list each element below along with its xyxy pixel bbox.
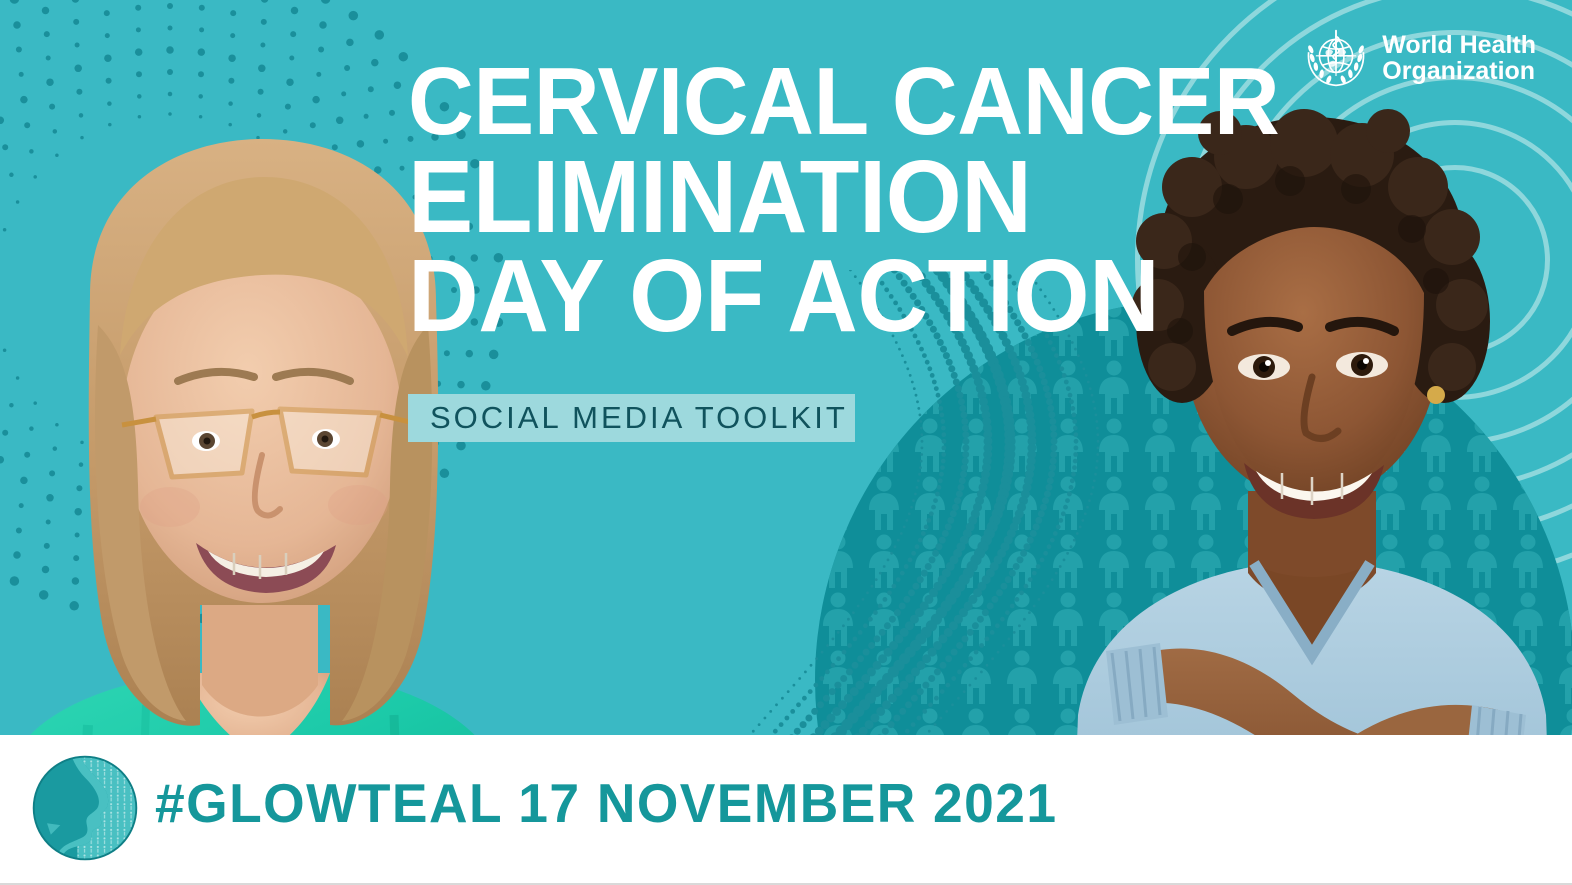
poster-canvas: CERVICAL CANCER ELIMINATION DAY OF ACTIO… <box>0 0 1572 885</box>
woman-profile-globe-icon <box>28 749 142 867</box>
headline-line-1: CERVICAL CANCER <box>408 58 1197 146</box>
who-logo: World Health Organization <box>1300 22 1536 94</box>
subtitle-banner: SOCIAL MEDIA TOOLKIT <box>408 394 855 442</box>
who-logo-line-1: World Health <box>1382 32 1536 58</box>
headline-line-2: ELIMINATION <box>408 150 1197 245</box>
who-logo-text: World Health Organization <box>1382 32 1536 85</box>
headline-block: CERVICAL CANCER ELIMINATION DAY OF ACTIO… <box>408 58 1238 344</box>
bottom-bar-text: #GLOWTEAL 17 NOVEMBER 2021 <box>155 771 1058 835</box>
subtitle-text: SOCIAL MEDIA TOOLKIT <box>408 400 848 436</box>
who-emblem-icon <box>1300 22 1372 94</box>
bottom-bar: #GLOWTEAL 17 NOVEMBER 2021 <box>0 735 1572 885</box>
headline-line-3: DAY OF ACTION <box>408 249 1197 344</box>
who-logo-line-2: Organization <box>1382 58 1536 84</box>
